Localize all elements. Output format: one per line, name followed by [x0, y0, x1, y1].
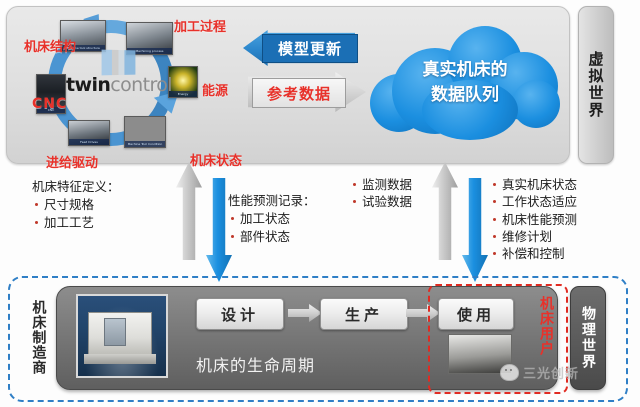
monitoring-data-list: 监测数据 试验数据	[350, 176, 412, 211]
machine-condition-caption: Machine Tool Condition	[125, 141, 165, 147]
lifecycle-stage-design[interactable]: 设计	[196, 298, 284, 330]
machine-window-shape	[104, 318, 126, 346]
feed-drives-caption: Feed Drives	[69, 139, 109, 145]
feed-drives-thumbnail: Feed Drives	[68, 120, 110, 146]
watermark-text: 三光创新	[523, 363, 579, 382]
machine-condition-thumbnail: Machine Tool Condition	[124, 116, 166, 148]
virtual-world-label: 虚拟世界	[578, 6, 614, 164]
lifecycle-stage-production[interactable]: 生产	[320, 298, 408, 330]
model-update-label: 模型更新	[262, 34, 358, 63]
lifecycle-stage-design-label: 设计	[221, 304, 259, 325]
list-item: 尺寸规格	[44, 196, 120, 213]
cloud-caption: 真实机床的 数据队列	[376, 58, 554, 107]
cloud-caption-line2: 数据队列	[376, 83, 554, 108]
machine-features-up-arrow-icon	[176, 162, 202, 260]
reference-data-text: 参考数据	[267, 83, 331, 104]
performance-prediction-heading: 性能预测记录：	[228, 192, 316, 209]
list-item: 机床性能预测	[502, 211, 577, 228]
lifecycle-stage-production-label: 生产	[345, 304, 383, 325]
cycle-label-cnc: CNC	[32, 96, 67, 112]
machine-features-heading: 机床特征定义：	[32, 178, 120, 195]
monitoring-up-arrow-icon	[432, 162, 458, 260]
twincontrol-cycle: Machine tool structure Machining process…	[14, 8, 244, 160]
diagram-canvas: 虚拟世界 Machine tool structure Machining pr…	[0, 0, 640, 407]
virtual-world-label-text: 虚拟世界	[586, 51, 607, 119]
reference-data-label: 参考数据	[252, 78, 346, 108]
logo-twin-text: twin	[66, 74, 110, 96]
watermark: 三光创新	[500, 360, 620, 384]
wechat-icon	[500, 364, 519, 381]
machine-base-shape	[84, 354, 156, 364]
machine-tool-photo	[76, 294, 168, 378]
twincontrol-logo-mark-icon	[102, 50, 136, 76]
twincontrol-logo: twincontrol	[54, 76, 184, 95]
machine-manufacturer-label: 机床制造商	[30, 300, 45, 375]
cycle-label-machine-condition: 机床状态	[190, 150, 242, 169]
list-item: 真实机床状态	[502, 176, 577, 193]
list-item: 加工状态	[240, 210, 316, 227]
cycle-label-machining-process: 加工过程	[174, 16, 226, 35]
real-machine-status-items: 真实机床状态 工作状态适应 机床性能预测 维修计划 补偿和控制	[490, 176, 577, 262]
list-item: 补偿和控制	[502, 245, 577, 262]
list-item: 部件状态	[240, 228, 316, 245]
machine-user-label: 机床用户	[536, 296, 556, 356]
lifecycle-caption: 机床的生命周期	[196, 352, 436, 376]
cycle-label-energy: 能源	[202, 80, 228, 99]
monitoring-data-items: 监测数据 试验数据	[350, 176, 412, 211]
list-item: 加工工艺	[44, 214, 120, 231]
cycle-label-machine-structure: 机床结构	[24, 36, 76, 55]
real-machine-status-list: 真实机床状态 工作状态适应 机床性能预测 维修计划 补偿和控制	[490, 176, 577, 262]
list-item: 工作状态适应	[502, 193, 577, 210]
cloud-caption-line1: 真实机床的	[376, 58, 554, 83]
performance-prediction-items: 加工状态 部件状态	[228, 210, 316, 245]
machine-features-list: 机床特征定义： 尺寸规格 加工工艺	[32, 178, 120, 231]
model-update-text: 模型更新	[278, 38, 342, 59]
performance-prediction-list: 性能预测记录： 加工状态 部件状态	[228, 192, 316, 245]
logo-control-text: control	[110, 74, 172, 96]
machine-features-items: 尺寸规格 加工工艺	[32, 196, 120, 231]
list-item: 维修计划	[502, 228, 577, 245]
list-item: 监测数据	[362, 176, 412, 193]
cycle-label-feed-drives: 进给驱动	[46, 152, 98, 171]
real-status-down-arrow-icon	[462, 178, 488, 282]
data-queue-cloud: 真实机床的 数据队列	[362, 18, 568, 150]
list-item: 试验数据	[362, 193, 412, 210]
